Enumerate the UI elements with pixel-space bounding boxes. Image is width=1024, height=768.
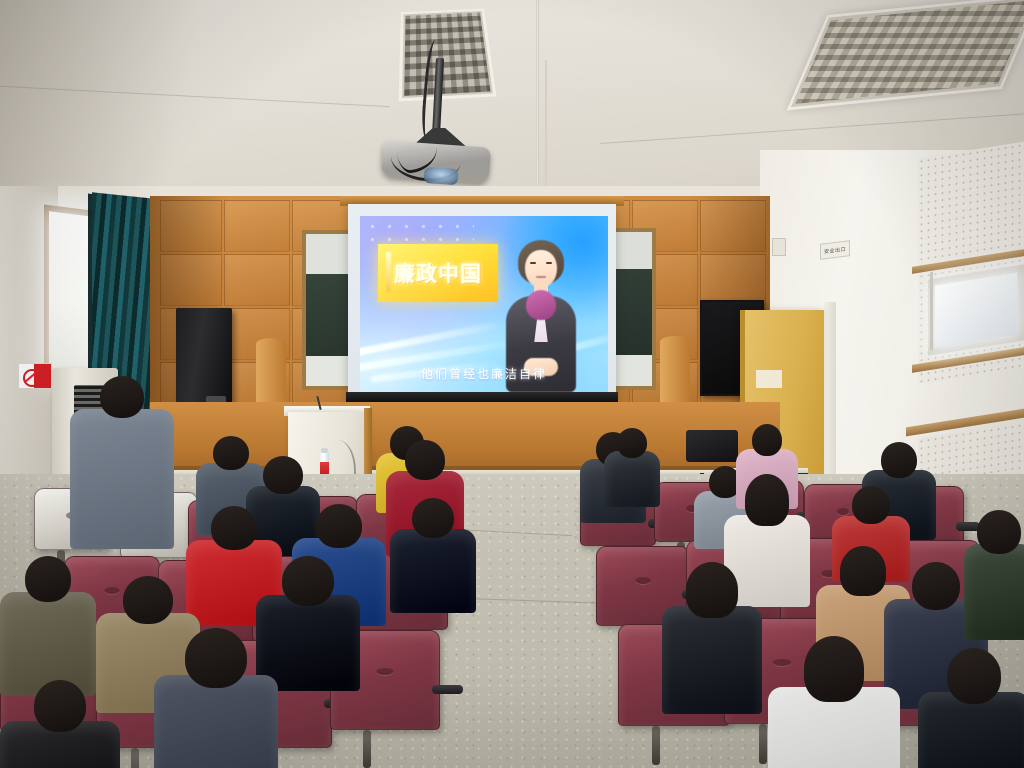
- cabinet-panel: [224, 254, 290, 306]
- attendee-dark-jacket-mid: [390, 498, 476, 622]
- standing-man-gray-jacket: [70, 376, 174, 558]
- person-head: [405, 440, 445, 480]
- ceiling-shadow: [0, 0, 200, 215]
- attendee-foreground-center: [154, 628, 278, 768]
- lecture-hall-photo: 安全出口 廉政中国: [0, 0, 1024, 768]
- projected-video: 廉政中国 他们曾经也廉洁自律: [360, 216, 608, 392]
- person-head: [912, 562, 960, 610]
- seat-pedestal: [363, 730, 371, 768]
- person-head: [185, 628, 247, 688]
- seat-pedestal: [759, 724, 767, 764]
- person-head: [752, 424, 782, 456]
- side-board-left: [302, 230, 354, 390]
- no-smoking-icon: [19, 364, 34, 388]
- anchor-mouth: [536, 276, 546, 278]
- board-pane: [306, 356, 350, 386]
- person-head: [852, 486, 890, 524]
- person-head: [25, 556, 71, 602]
- door-notice: [756, 370, 782, 388]
- person-head: [977, 510, 1021, 554]
- cabinet-panel: [224, 200, 290, 252]
- person-head: [123, 576, 173, 624]
- person-head: [34, 680, 86, 732]
- water-bottle-cap: [321, 448, 328, 453]
- av-console[interactable]: [686, 430, 738, 462]
- board-pane: [306, 234, 350, 274]
- no-smoking-sign: [18, 363, 52, 389]
- anchor-eye: [530, 262, 536, 264]
- attendee-hat-right: [964, 510, 1024, 650]
- seat-pedestal: [652, 726, 660, 765]
- person-head: [617, 428, 647, 458]
- person-torso: [662, 606, 762, 714]
- person-head: [840, 546, 886, 596]
- title-card-accent: [386, 252, 391, 292]
- window-glass: [935, 273, 1017, 348]
- attendee-foreground-right: [918, 648, 1024, 768]
- person-head: [881, 442, 917, 478]
- screen-bottom-bar: [346, 392, 618, 402]
- water-bottle-label: [320, 462, 329, 474]
- door-jamb: [824, 302, 836, 498]
- anchor-scarf: [526, 290, 556, 320]
- video-subtitle: 他们曾经也廉洁自律: [360, 365, 608, 382]
- person-head: [412, 498, 454, 538]
- person-torso: [70, 409, 174, 549]
- program-title-card: 廉政中国: [378, 244, 498, 302]
- person-torso: [154, 675, 278, 768]
- person-head: [211, 506, 257, 550]
- ceiling-conduit: [536, 0, 539, 212]
- person-head: [686, 562, 738, 618]
- attendee-glasses-woman: [662, 562, 762, 726]
- right-window: [928, 264, 1024, 355]
- louver-grille: [795, 0, 1024, 104]
- person-head: [316, 504, 362, 548]
- lectern-side-trim: [364, 408, 372, 482]
- person-torso: [390, 529, 476, 613]
- person-head: [745, 474, 789, 526]
- person-head: [804, 636, 864, 702]
- person-head: [947, 648, 1001, 704]
- person-head: [263, 456, 303, 494]
- louver-grille: [404, 13, 490, 96]
- person-torso: [604, 451, 660, 507]
- seat-armrest: [432, 685, 463, 694]
- wall-box: [772, 238, 786, 256]
- attendee-right-row1-2: [604, 428, 660, 514]
- projector-lens: [423, 167, 458, 185]
- anchor-face: [525, 250, 557, 288]
- seat-pedestal: [131, 748, 139, 768]
- person-torso: [964, 544, 1024, 640]
- window-mullion: [930, 272, 933, 350]
- studio-light-dots: [364, 220, 474, 246]
- person-head: [213, 436, 249, 470]
- person-head: [100, 376, 144, 418]
- attendee-white-jacket-foreground: [768, 636, 900, 768]
- attendee-foreground-left: [0, 680, 120, 768]
- program-title-text: 廉政中国: [394, 258, 482, 288]
- anchor-eye: [546, 262, 552, 264]
- person-head: [282, 556, 334, 606]
- ceiling-light-left: [399, 9, 497, 102]
- plaque-text: 安全出口: [824, 245, 846, 255]
